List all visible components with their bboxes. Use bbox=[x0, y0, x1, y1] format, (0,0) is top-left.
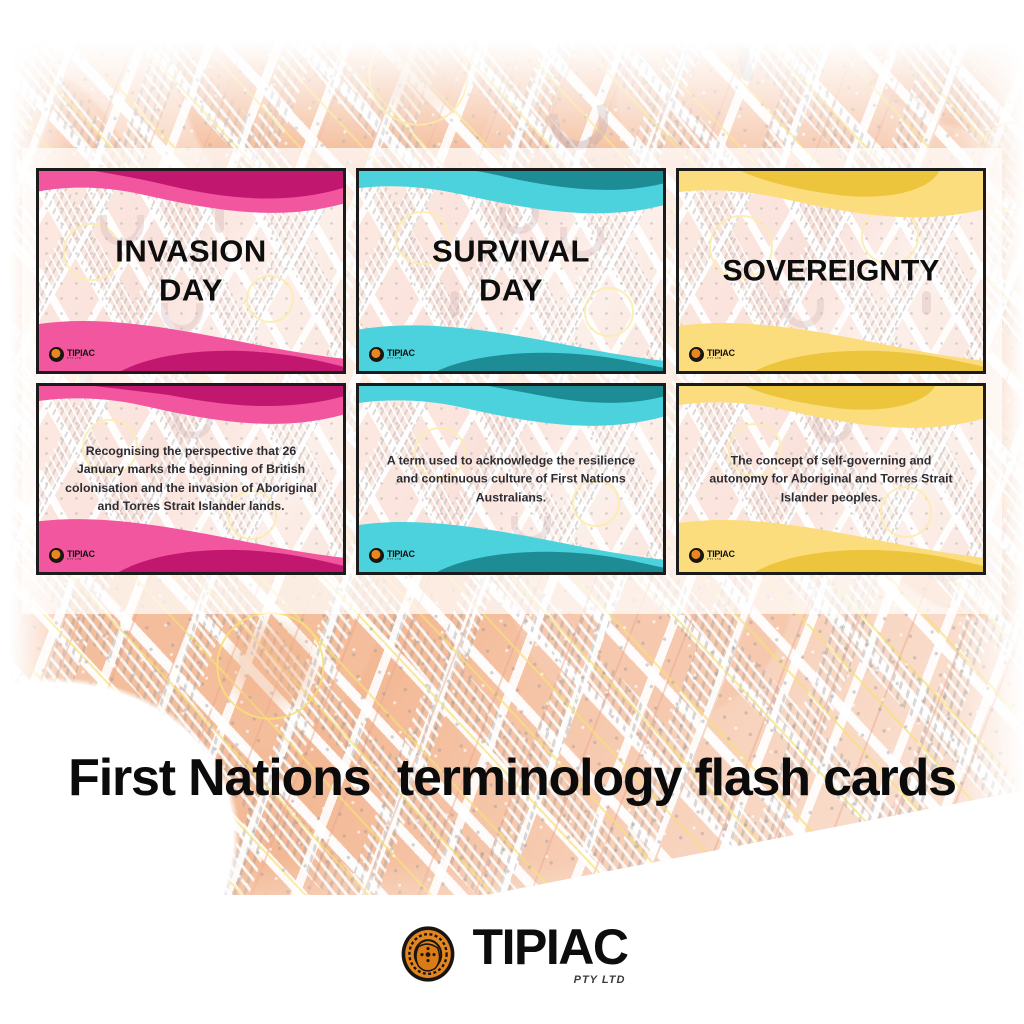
brand-name: TIPIAC bbox=[473, 922, 628, 972]
flash-cards-sheet: INVASION DAY TIPIAC PTY LTD bbox=[22, 148, 1002, 614]
card-title-line: DAY bbox=[371, 271, 651, 310]
card-title-line: SOVEREIGNTY bbox=[691, 252, 971, 290]
flash-card-survival-day[interactable]: SURVIVAL DAY TIPIAC PTY LTD bbox=[356, 168, 666, 374]
card-logo: TIPIAC PTY LTD bbox=[689, 347, 735, 362]
flash-card-sovereignty[interactable]: SOVEREIGNTY TIPIAC PTY LTD bbox=[676, 168, 986, 374]
tipiac-emblem-icon bbox=[689, 347, 704, 362]
flash-card-sovereignty-definition[interactable]: The concept of self-governing and autono… bbox=[676, 383, 986, 575]
flash-card-invasion-day[interactable]: INVASION DAY TIPIAC PTY LTD bbox=[36, 168, 346, 374]
card-logo-tagline: PTY LTD bbox=[387, 358, 415, 361]
card-title: SOVEREIGNTY bbox=[679, 252, 983, 290]
page-title: First Nations terminology flash cards bbox=[0, 748, 1024, 808]
card-logo: TIPIAC PTY LTD bbox=[369, 347, 415, 362]
card-title: INVASION DAY bbox=[39, 232, 343, 310]
card-logo-tagline: PTY LTD bbox=[707, 559, 735, 562]
card-logo: TIPIAC PTY LTD bbox=[49, 548, 95, 563]
card-title: SURVIVAL DAY bbox=[359, 232, 663, 310]
tipiac-emblem-icon bbox=[369, 548, 384, 563]
card-logo-tagline: PTY LTD bbox=[707, 358, 735, 361]
card-title-line: DAY bbox=[51, 271, 331, 310]
flash-cards-grid: INVASION DAY TIPIAC PTY LTD bbox=[22, 148, 1002, 614]
card-logo-tagline: PTY LTD bbox=[387, 559, 415, 562]
card-definition-text: The concept of self-governing and autono… bbox=[679, 451, 983, 506]
brand-logo: TIPIAC PTY LTD bbox=[0, 922, 1024, 986]
card-definition-text: Recognising the perspective that 26 Janu… bbox=[39, 442, 343, 516]
card-logo: TIPIAC PTY LTD bbox=[49, 347, 95, 362]
card-logo-tagline: PTY LTD bbox=[67, 358, 95, 361]
tipiac-emblem-icon bbox=[397, 924, 459, 984]
tipiac-emblem-icon bbox=[49, 347, 64, 362]
tipiac-emblem-icon bbox=[49, 548, 64, 563]
brand-tagline: PTY LTD bbox=[574, 975, 626, 986]
tipiac-emblem-icon bbox=[689, 548, 704, 563]
tipiac-emblem-icon bbox=[369, 347, 384, 362]
card-title-line: SURVIVAL bbox=[371, 232, 651, 271]
flash-card-invasion-day-definition[interactable]: Recognising the perspective that 26 Janu… bbox=[36, 383, 346, 575]
card-definition-text: A term used to acknowledge the resilienc… bbox=[359, 451, 663, 506]
flash-card-survival-day-definition[interactable]: A term used to acknowledge the resilienc… bbox=[356, 383, 666, 575]
card-logo: TIPIAC PTY LTD bbox=[369, 548, 415, 563]
card-title-line: INVASION bbox=[51, 232, 331, 271]
card-logo: TIPIAC PTY LTD bbox=[689, 548, 735, 563]
card-logo-tagline: PTY LTD bbox=[67, 559, 95, 562]
